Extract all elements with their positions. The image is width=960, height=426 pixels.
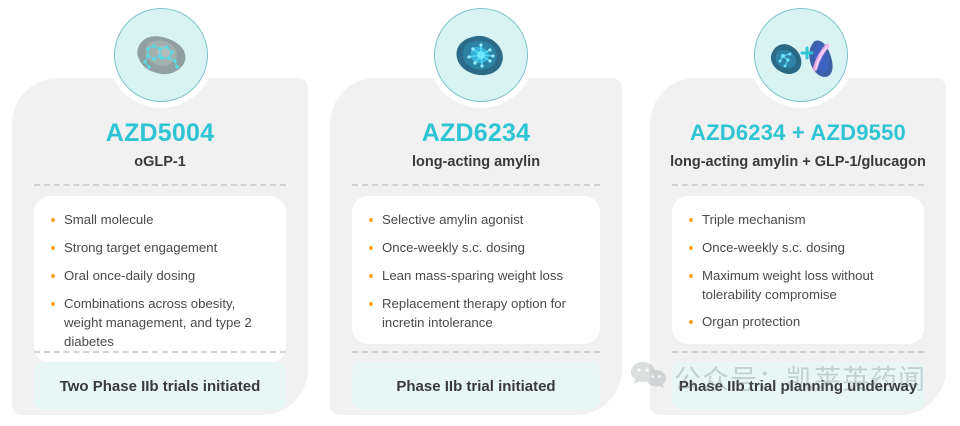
bullet-marker-icon: • [680,238,702,258]
bullet-text: Maximum weight loss without tolerability… [702,266,910,304]
molecule-amylin-icon [434,8,528,102]
bullet-text: Lean mass-sparing weight loss [382,266,563,285]
bullet-marker-icon: • [42,210,64,230]
list-item: • Lean mass-sparing weight loss [360,266,586,286]
bullet-text: Small molecule [64,210,153,229]
molecule-combination-icon [754,8,848,102]
status-text: Phase IIb trial initiated [396,377,555,396]
list-item: • Triple mechanism [680,210,910,230]
card-subtitle: long-acting amylin [342,153,610,172]
list-item: • Small molecule [42,210,272,230]
card-title: AZD6234 [342,118,610,148]
card-header: AZD5004 oGLP-1 [12,118,308,172]
bullet-marker-icon: • [360,294,382,314]
list-item: • Once-weekly s.c. dosing [360,238,586,258]
list-item: • Maximum weight loss without tolerabili… [680,266,910,304]
divider-top [672,184,924,186]
slide-canvas: AZD5004 oGLP-1 • Small molecule • Strong… [0,0,960,426]
bullet-marker-icon: • [42,294,64,314]
molecule-small-molecule-icon [114,8,208,102]
list-item: • Selective amylin agonist [360,210,586,230]
bullet-text: Oral once-daily dosing [64,266,195,285]
card-header: AZD6234 long-acting amylin [330,118,622,172]
bullet-panel: • Triple mechanism • Once-weekly s.c. do… [672,196,924,344]
divider-bottom [352,351,600,353]
divider-bottom [672,351,924,353]
product-card-azd5004: AZD5004 oGLP-1 • Small molecule • Strong… [12,78,308,415]
divider-top [34,184,286,186]
card-title: AZD5004 [24,118,296,148]
list-item: • Combinations across obesity, weight ma… [42,294,272,351]
list-item: • Once-weekly s.c. dosing [680,238,910,258]
card-subtitle: long-acting amylin + GLP-1/glucagon [662,153,934,172]
list-item: • Organ protection [680,312,910,332]
bullet-marker-icon: • [360,238,382,258]
card-subtitle: oGLP-1 [24,153,296,172]
bullet-marker-icon: • [42,238,64,258]
list-item: • Strong target engagement [42,238,272,258]
divider-top [352,184,600,186]
bullet-marker-icon: • [42,266,64,286]
bullet-panel: • Small molecule • Strong target engagem… [34,196,286,363]
bullet-panel: • Selective amylin agonist • Once-weekly… [352,196,600,344]
divider-bottom [34,351,286,353]
product-card-azd6234: AZD6234 long-acting amylin • Selective a… [330,78,622,415]
bullet-text: Replacement therapy option for incretin … [382,294,586,332]
list-item: • Replacement therapy option for increti… [360,294,586,332]
bullet-marker-icon: • [680,266,702,286]
status-text: Two Phase IIb trials initiated [60,377,261,396]
bullet-text: Once-weekly s.c. dosing [382,238,525,257]
status-badge: Phase IIb trial initiated [352,362,600,410]
bullet-text: Strong target engagement [64,238,217,257]
card-title: AZD6234 + AZD9550 [662,118,934,148]
bullet-text: Triple mechanism [702,210,806,229]
bullet-marker-icon: • [360,210,382,230]
status-badge: Two Phase IIb trials initiated [34,362,286,410]
bullet-text: Once-weekly s.c. dosing [702,238,845,257]
bullet-text: Combinations across obesity, weight mana… [64,294,272,351]
card-header: AZD6234 + AZD9550 long-acting amylin + G… [650,118,946,172]
status-badge: Phase IIb trial planning underway [672,362,924,410]
bullet-marker-icon: • [680,312,702,332]
list-item: • Oral once-daily dosing [42,266,272,286]
status-text: Phase IIb trial planning underway [679,377,917,396]
bullet-text: Organ protection [702,312,800,331]
product-card-azd6234-azd9550: AZD6234 + AZD9550 long-acting amylin + G… [650,78,946,415]
bullet-text: Selective amylin agonist [382,210,523,229]
bullet-marker-icon: • [680,210,702,230]
bullet-marker-icon: • [360,266,382,286]
